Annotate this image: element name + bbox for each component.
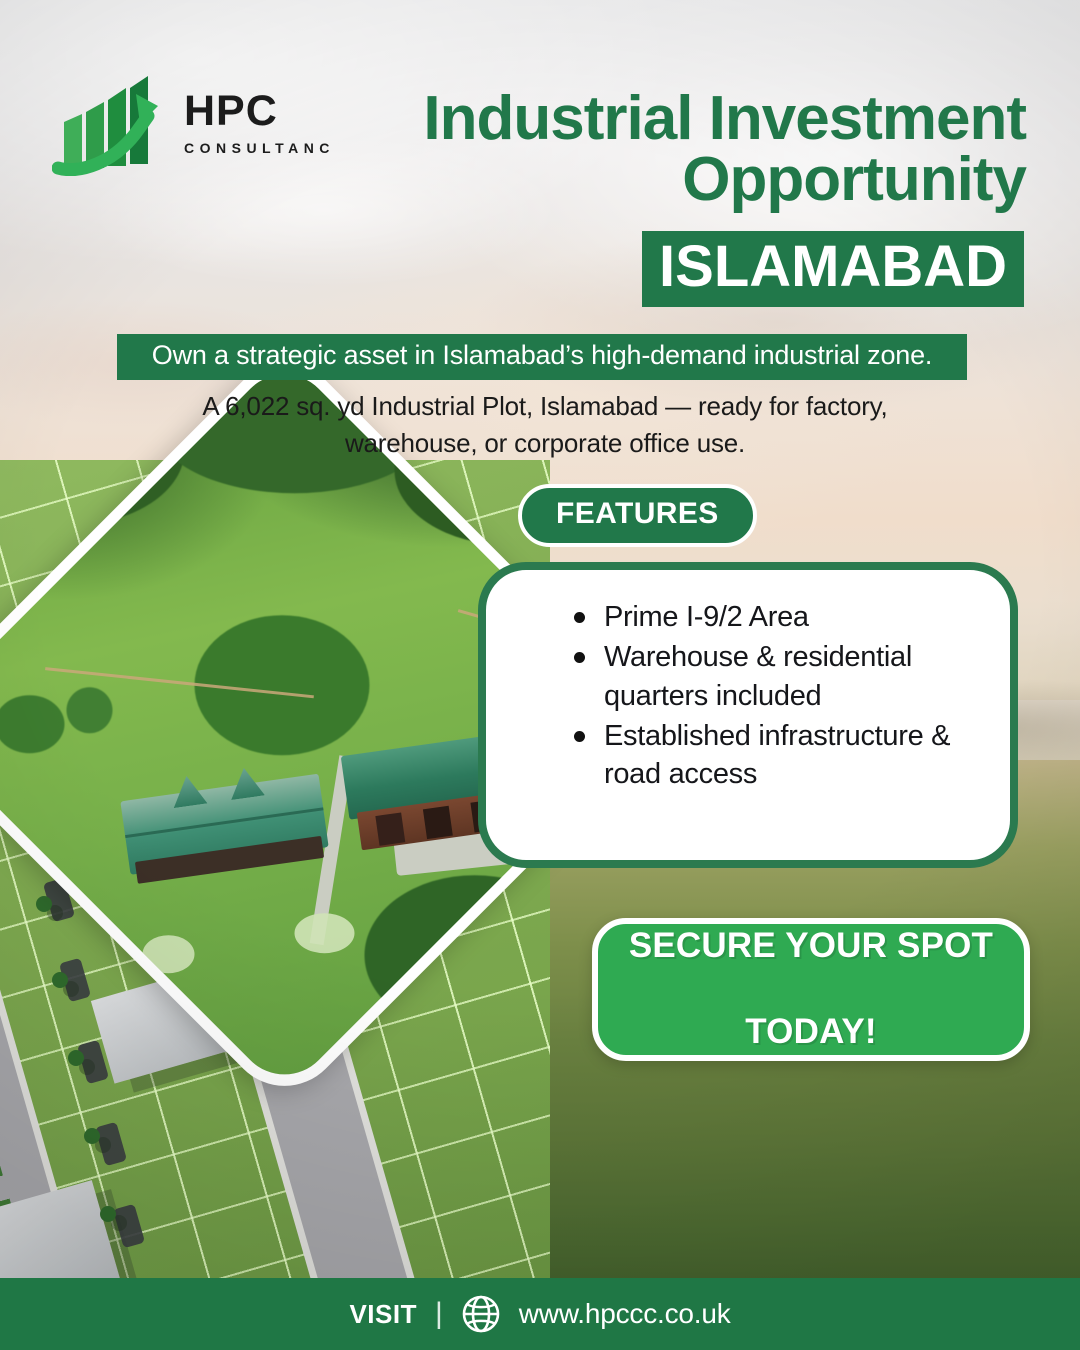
brand-logo[interactable]: HPC CONSULTANC [52,72,322,182]
cta-line-2: TODAY! [629,1011,993,1054]
description-paragraph: A 6,022 sq. yd Industrial Plot, Islamaba… [150,388,940,462]
secure-your-spot-button[interactable]: SECURE YOUR SPOTTODAY! [592,918,1030,1061]
footer-divider: | [435,1297,443,1331]
visit-label: VISIT [349,1299,417,1330]
features-card: Prime I-9/2 Area Warehouse & residential… [478,562,1018,868]
house-building [120,773,328,874]
plot-tree [68,1050,84,1066]
tagline-banner: Own a strategic asset in Islamabad’s hig… [117,334,967,380]
logo-tagline: CONSULTANC [184,140,335,156]
list-item: Established infrastructure & road access [574,717,994,794]
page-title: Industrial Investment Opportunity [320,88,1026,211]
cta-line-1: SECURE YOUR SPOT [629,925,993,968]
plot-tree [36,896,52,912]
features-badge-label: FEATURES [556,497,719,530]
plot-tree [100,1206,116,1222]
title-line-2: Opportunity [320,149,1026,210]
website-url[interactable]: www.hpccc.co.uk [519,1298,731,1330]
poster-canvas: HPC CONSULTANC Industrial Investment Opp… [0,0,1080,1350]
plot-tree [84,1128,100,1144]
list-item: Warehouse & residential quarters include… [574,638,994,715]
list-item: Prime I-9/2 Area [574,598,994,636]
hpc-growth-chart-icon [52,72,172,176]
globe-icon [461,1294,501,1334]
city-banner: ISLAMABAD [642,231,1024,307]
plot-tree [52,972,68,988]
logo-name: HPC [184,90,335,133]
tagline-text: Own a strategic asset in Islamabad’s hig… [152,340,932,370]
footer-bar: VISIT | www.hpccc.co.uk [0,1278,1080,1350]
title-line-1: Industrial Investment [423,84,1026,153]
city-label: ISLAMABAD [659,238,1007,296]
features-badge: FEATURES [518,484,757,547]
features-list: Prime I-9/2 Area Warehouse & residential… [574,598,994,795]
cta-label: SECURE YOUR SPOTTODAY! [629,925,993,1053]
